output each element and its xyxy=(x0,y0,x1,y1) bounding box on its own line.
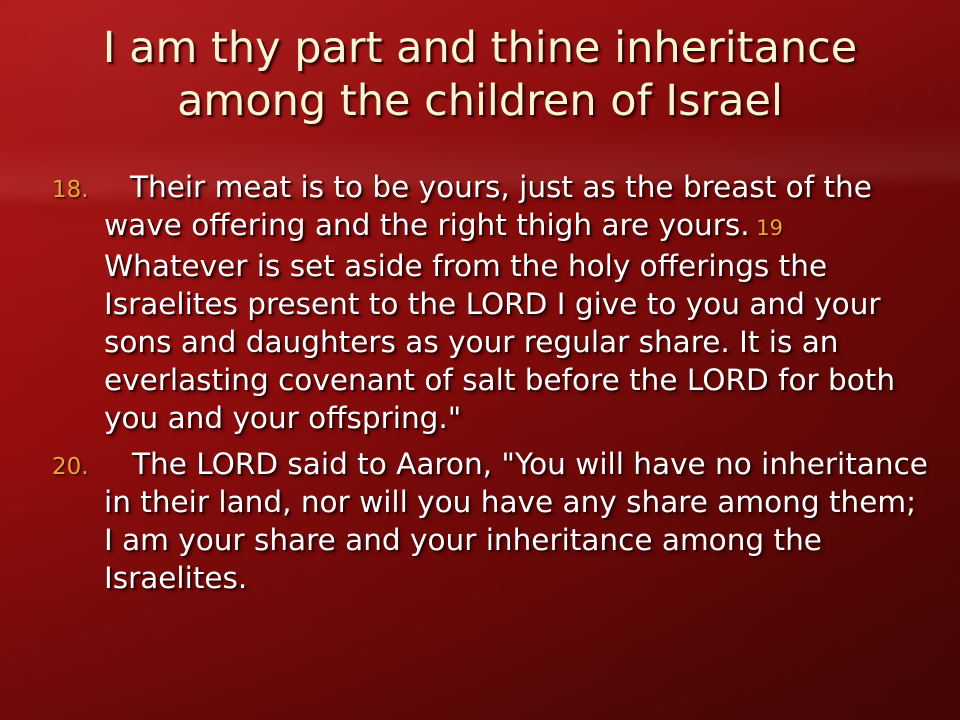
list-item: 18. Their meat is to be yours, just as t… xyxy=(52,168,928,437)
slide-content: I am thy part and thine inheritance amon… xyxy=(0,0,960,720)
list-item: 20. The LORD said to Aaron, "You will ha… xyxy=(52,445,928,597)
inline-verse-number-19: 19 xyxy=(750,216,783,240)
list-item-text-20: The LORD said to Aaron, "You will have n… xyxy=(104,445,928,597)
list-item-marker-18: 18. xyxy=(52,168,104,209)
list-item-text-18: Their meat is to be yours, just as the b… xyxy=(104,168,928,437)
list-item-marker-20: 20. xyxy=(52,445,104,486)
slide-title: I am thy part and thine inheritance amon… xyxy=(34,22,926,128)
slide-body: 18. Their meat is to be yours, just as t… xyxy=(52,168,928,605)
slide-title-line-2: among the children of Israel xyxy=(34,75,926,128)
slide-title-line-1: I am thy part and thine inheritance xyxy=(34,22,926,75)
verse-19-text: Whatever is set aside from the holy offe… xyxy=(104,249,895,435)
presentation-slide: I am thy part and thine inheritance amon… xyxy=(0,0,960,720)
